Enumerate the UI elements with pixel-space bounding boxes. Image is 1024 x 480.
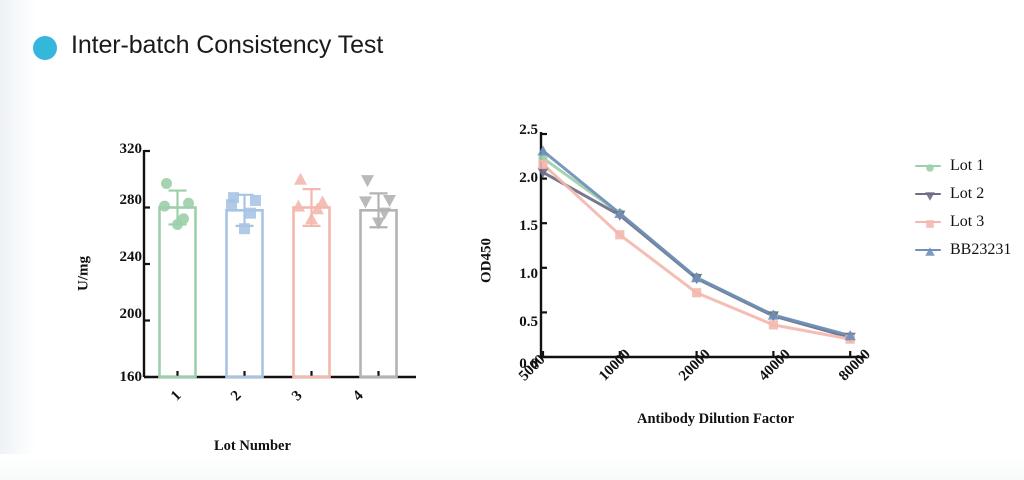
legend-item-lot-1[interactable]: Lot 1	[915, 152, 1011, 180]
bar-ytick-160: 160	[96, 369, 142, 386]
legend-label: Lot 3	[950, 213, 984, 231]
legend-swatch-square-icon	[915, 216, 941, 228]
bar-yaxis-title: U/mg	[76, 244, 93, 304]
line-ytick-2-5: 2.5	[496, 122, 538, 139]
heading-consistency-test: Inter-batch Consistency Test	[33, 29, 383, 63]
bar-ytick-280: 280	[96, 192, 142, 209]
legend-swatch-circle-icon	[915, 160, 941, 172]
legend-label: Lot 1	[950, 157, 984, 175]
legend-swatch-triangle-up-icon	[915, 244, 941, 256]
line-yaxis-title: OD450	[479, 226, 496, 296]
line-chart-plot	[537, 130, 867, 375]
line-xaxis-title: Antibody Dilution Factor	[637, 411, 794, 428]
line-ytick-0-5: 0.5	[496, 314, 538, 331]
line-ytick-1-5: 1.5	[496, 218, 538, 235]
bar-ytick-240: 240	[96, 249, 142, 266]
legend-item-bb23231[interactable]: BB23231	[915, 236, 1011, 264]
heading-text: Inter-batch Consistency Test	[71, 29, 383, 63]
legend-label: BB23231	[950, 241, 1011, 259]
legend-item-lot-2[interactable]: Lot 2	[915, 180, 1011, 208]
filled-circle-icon	[33, 36, 57, 60]
bar-xaxis-title: Lot Number	[214, 438, 291, 455]
legend-label: Lot 2	[950, 185, 984, 203]
line-chart-legend: Lot 1 Lot 2 Lot 3 BB23231	[915, 152, 1011, 264]
line-ytick-2-0: 2.0	[496, 170, 538, 187]
line-ytick-1-0: 1.0	[496, 266, 538, 283]
bar-ytick-200: 200	[96, 306, 142, 323]
legend-swatch-triangle-down-icon	[915, 188, 941, 200]
bar-chart-plot	[140, 145, 420, 405]
legend-item-lot-3[interactable]: Lot 3	[915, 208, 1011, 236]
bar-ytick-320: 320	[96, 141, 142, 158]
panel-consistency-test: Inter-batch Consistency Test 320 280 240…	[0, 0, 500, 480]
